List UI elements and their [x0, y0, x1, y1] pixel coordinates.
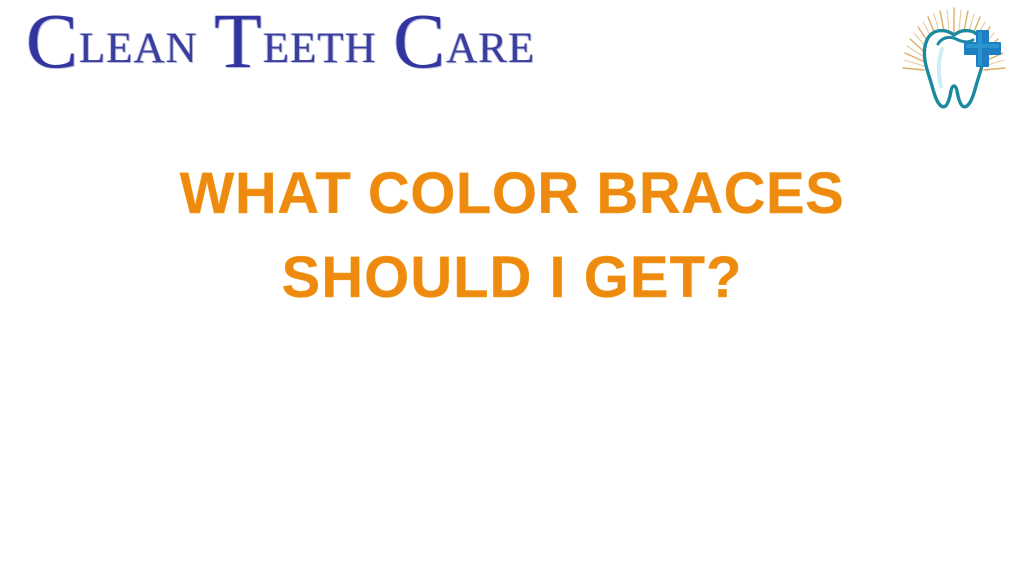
slide-body-area: [0, 330, 1024, 576]
slide-canvas: Clean Teeth Care: [0, 0, 1024, 576]
brand-word-care: Care: [393, 8, 535, 76]
page-title: WHAT COLOR BRACES SHOULD I GET?: [0, 152, 1024, 320]
tooth-with-cross-icon: [898, 4, 1010, 112]
brand-word-teeth: Teeth: [214, 8, 377, 76]
brand-wordmark: Clean Teeth Care: [26, 10, 535, 75]
headline-line-1: WHAT COLOR BRACES: [0, 152, 1024, 236]
headline-line-2: SHOULD I GET?: [0, 236, 1024, 320]
brand-word-clean: Clean: [26, 8, 198, 76]
